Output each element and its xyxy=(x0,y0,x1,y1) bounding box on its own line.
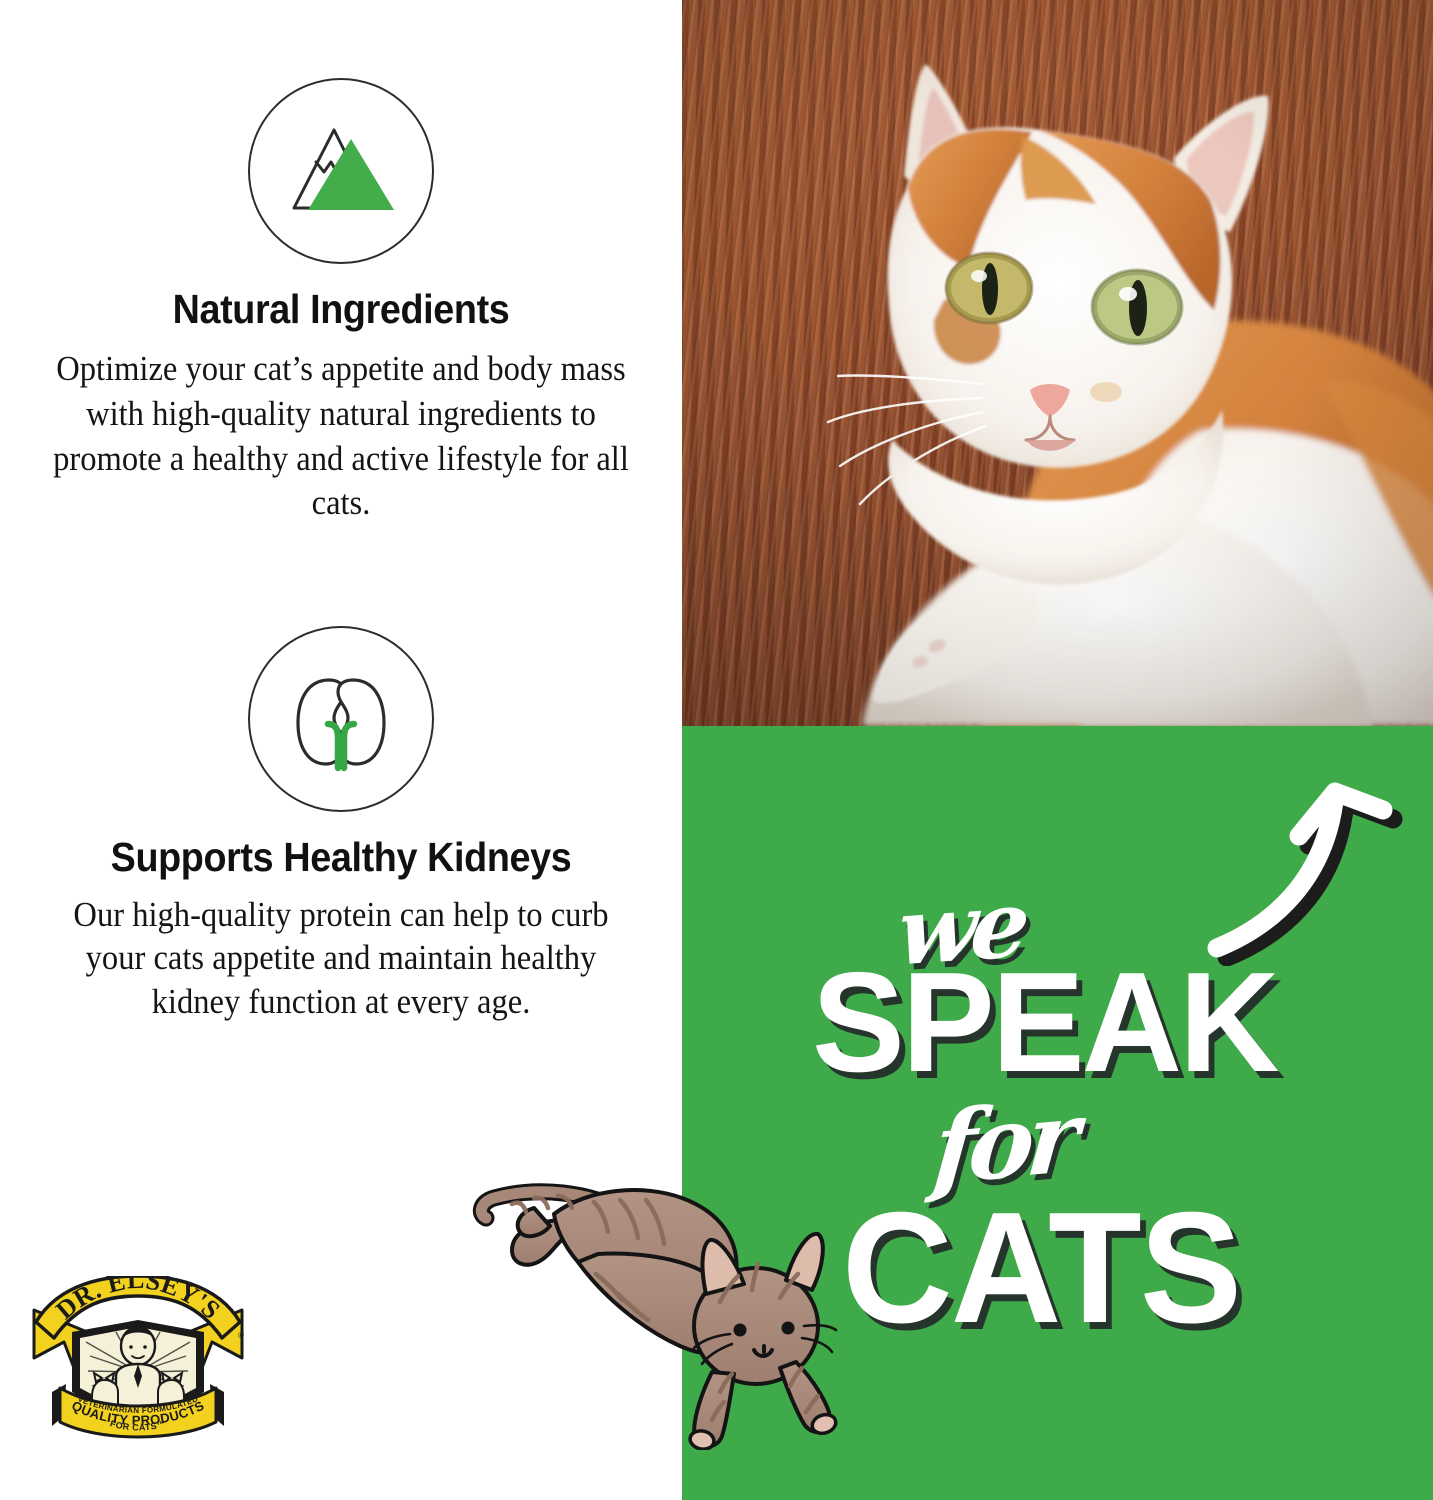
logo-tagline-2: QUALITY PRODUCTS xyxy=(30,1441,31,1442)
slogan-line-cats: CATS xyxy=(842,1178,1240,1359)
svg-text:DR. ELSEY'S: DR. ELSEY'S xyxy=(50,1276,226,1325)
logo-brand-text: DR. ELSEY'S xyxy=(30,1441,31,1442)
dr-elseys-logo: DR. ELSEY'S VETERINARIAN FORMULATED QUAL… xyxy=(30,1276,246,1441)
photo-vignette xyxy=(682,0,1433,726)
feature-title: Supports Healthy Kidneys xyxy=(27,836,654,879)
curved-up-arrow xyxy=(1187,726,1407,966)
kidneys-icon xyxy=(248,626,434,812)
feature-block-natural-ingredients: Natural Ingredients Optimize your cat’s … xyxy=(0,78,682,526)
mountain-icon xyxy=(248,78,434,264)
feature-title: Natural Ingredients xyxy=(27,288,654,331)
orange-white-cat-photo xyxy=(682,0,1433,726)
logo-tagline-3: FOR CATS™ xyxy=(30,1441,31,1442)
leaping-tabby-cat-illustration xyxy=(468,1178,838,1450)
product-infographic-page: Natural Ingredients Optimize your cat’s … xyxy=(0,0,1433,1500)
logo-tagline-1: VETERINARIAN FORMULATED xyxy=(30,1441,31,1442)
feature-description: Optimize your cat’s appetite and body ma… xyxy=(24,347,658,526)
svg-text:®: ® xyxy=(238,1331,244,1340)
feature-block-healthy-kidneys: Supports Healthy Kidneys Our high-qualit… xyxy=(0,626,682,1023)
feature-description: Our high-quality protein can help to cur… xyxy=(24,893,658,1023)
